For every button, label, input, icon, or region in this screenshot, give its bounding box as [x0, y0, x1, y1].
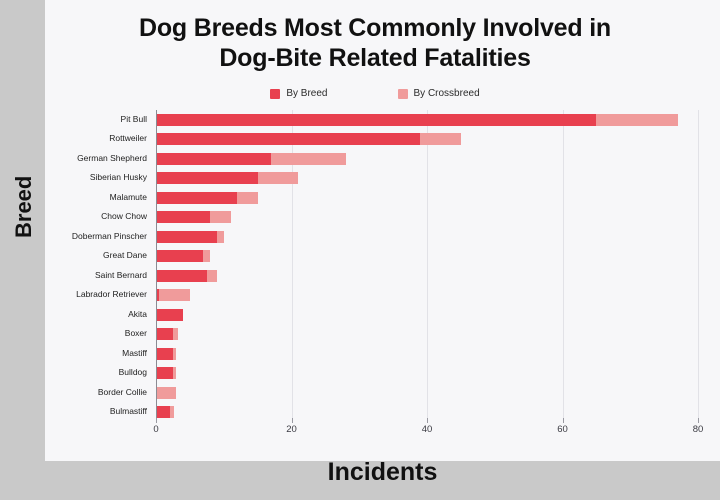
y-axis-label: Chow Chow: [43, 211, 147, 221]
x-axis-label: 0: [153, 424, 158, 435]
bar-row[interactable]: [156, 247, 210, 267]
y-axis-label: Rottweiler: [43, 133, 147, 143]
bar-segment-by-breed[interactable]: [156, 231, 217, 243]
bar-segment-by-breed[interactable]: [156, 250, 203, 262]
bar-row[interactable]: [156, 188, 258, 208]
y-axis-label: Labrador Retriever: [43, 289, 147, 299]
bar-segment-by-crossbreed[interactable]: [203, 250, 210, 262]
bar-segment-by-crossbreed[interactable]: [420, 133, 461, 145]
bar-segment-by-breed[interactable]: [156, 309, 183, 321]
x-axis-tick-labels: 020406080: [156, 424, 698, 442]
bar-segment-by-crossbreed[interactable]: [210, 211, 230, 223]
y-axis-label: German Shepherd: [43, 153, 147, 163]
bar-row[interactable]: [156, 266, 217, 286]
bar-segment-by-breed[interactable]: [156, 133, 420, 145]
y-axis-label: Bulldog: [43, 367, 147, 377]
x-axis-label: 60: [557, 424, 568, 435]
y-axis-label: Doberman Pinscher: [43, 231, 147, 241]
bar-segment-by-breed[interactable]: [156, 114, 596, 126]
plot-area: [156, 110, 698, 422]
bar-segment-by-breed[interactable]: [156, 211, 210, 223]
legend-item-by-breed[interactable]: By Breed: [270, 88, 327, 99]
y-axis-label: Mastiff: [43, 348, 147, 358]
y-axis-label: Pit Bull: [43, 114, 147, 124]
bar-segment-by-crossbreed[interactable]: [173, 348, 176, 360]
x-tick-mark: [156, 418, 157, 423]
bar-row[interactable]: [156, 305, 183, 325]
y-axis-label: Great Dane: [43, 250, 147, 260]
bar-segment-by-breed[interactable]: [156, 328, 173, 340]
bar-segment-by-breed[interactable]: [156, 348, 173, 360]
bar-row[interactable]: [156, 383, 176, 403]
x-tick-mark: [427, 418, 428, 423]
chart-screenshot: Dog Breeds Most Commonly Involved in Dog…: [0, 0, 720, 500]
chart-title-line-2: Dog-Bite Related Fatalities: [45, 44, 705, 74]
x-tick-mark: [292, 418, 293, 423]
bar-row[interactable]: [156, 344, 176, 364]
bar-row[interactable]: [156, 110, 678, 130]
bar-row[interactable]: [156, 286, 190, 306]
bar-segment-by-breed[interactable]: [156, 367, 173, 379]
y-axis-label: Bulmastiff: [43, 406, 147, 416]
bar-row[interactable]: [156, 149, 346, 169]
y-axis-label: Siberian Husky: [43, 172, 147, 182]
bar-segment-by-crossbreed[interactable]: [173, 367, 176, 379]
bar-row[interactable]: [156, 130, 461, 150]
chart-title: Dog Breeds Most Commonly Involved in Dog…: [45, 14, 705, 73]
legend-label-by-breed: By Breed: [286, 88, 327, 99]
bar-rows: [156, 110, 698, 422]
x-tick-mark: [698, 418, 699, 423]
x-axis-title: Incidents: [45, 458, 720, 487]
bar-segment-by-crossbreed[interactable]: [271, 153, 346, 165]
y-axis-label: Border Collie: [43, 387, 147, 397]
bar-segment-by-crossbreed[interactable]: [173, 328, 178, 340]
bar-row[interactable]: [156, 169, 298, 189]
bar-row[interactable]: [156, 208, 231, 228]
y-axis-label: Saint Bernard: [43, 270, 147, 280]
bar-row[interactable]: [156, 364, 176, 384]
x-axis-label: 20: [286, 424, 297, 435]
bar-segment-by-breed[interactable]: [156, 406, 170, 418]
bar-segment-by-crossbreed[interactable]: [207, 270, 217, 282]
legend-label-by-crossbreed: By Crossbreed: [414, 88, 480, 99]
bar-row[interactable]: [156, 227, 224, 247]
bar-segment-by-crossbreed[interactable]: [156, 387, 176, 399]
x-axis-label: 40: [422, 424, 433, 435]
bar-segment-by-crossbreed[interactable]: [159, 289, 189, 301]
x-axis-label: 80: [693, 424, 704, 435]
y-axis-label: Malamute: [43, 192, 147, 202]
bar-segment-by-breed[interactable]: [156, 192, 237, 204]
bar-segment-by-crossbreed[interactable]: [170, 406, 175, 418]
x-tick-mark: [563, 418, 564, 423]
bar-segment-by-breed[interactable]: [156, 172, 258, 184]
y-axis-title: Breed: [11, 178, 37, 238]
y-axis-label: Akita: [43, 309, 147, 319]
bar-row[interactable]: [156, 325, 178, 345]
bar-segment-by-crossbreed[interactable]: [596, 114, 677, 126]
bar-row[interactable]: [156, 403, 174, 423]
bar-segment-by-crossbreed[interactable]: [237, 192, 257, 204]
y-axis-tick-labels: Pit BullRottweilerGerman ShepherdSiberia…: [48, 110, 152, 422]
bar-segment-by-breed[interactable]: [156, 270, 207, 282]
chart-title-line-1: Dog Breeds Most Commonly Involved in: [139, 14, 611, 42]
bar-segment-by-crossbreed[interactable]: [258, 172, 299, 184]
legend-swatch-by-breed: [270, 89, 280, 99]
y-axis-line: [156, 110, 157, 422]
bar-segment-by-crossbreed[interactable]: [217, 231, 224, 243]
legend-swatch-by-crossbreed: [398, 89, 408, 99]
y-axis-label: Boxer: [43, 328, 147, 338]
chart-legend: By Breed By Crossbreed: [45, 88, 705, 99]
gridline-80: [698, 110, 699, 422]
legend-item-by-crossbreed[interactable]: By Crossbreed: [398, 88, 480, 99]
bar-segment-by-breed[interactable]: [156, 153, 271, 165]
